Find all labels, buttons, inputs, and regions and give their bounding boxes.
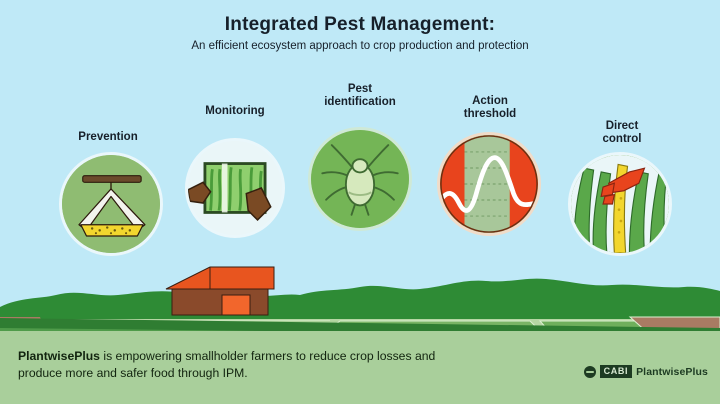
step-circle-pest-identification[interactable]	[308, 127, 412, 231]
quadrat-hands-icon	[188, 141, 282, 235]
step-label-direct-control: Direct control	[562, 120, 682, 146]
step-circle-action-threshold[interactable]	[437, 132, 541, 236]
threshold-chart-icon	[440, 135, 538, 233]
infographic-canvas: PlantwisePlus is empowering smallholder …	[0, 0, 720, 404]
brand-name: PlantwisePlus	[18, 349, 100, 363]
step-label-prevention: Prevention	[38, 131, 178, 144]
step-circle-direct-control[interactable]	[568, 152, 672, 256]
step-circle-prevention[interactable]	[59, 152, 163, 256]
cabi-wordmark: CABI	[600, 365, 632, 378]
plantwiseplus-wordmark: PlantwisePlus	[636, 366, 708, 378]
page-subtitle: An efficient ecosystem approach to crop …	[0, 40, 720, 52]
step-label-monitoring: Monitoring	[165, 105, 305, 118]
page-title: Integrated Pest Management:	[0, 14, 720, 36]
sticky-trap-icon	[62, 155, 160, 253]
step-circle-monitoring[interactable]	[185, 138, 285, 238]
globe-icon	[584, 366, 596, 378]
banner-message: PlantwisePlus is empowering smallholder …	[18, 348, 438, 382]
step-label-action-threshold: Action threshold	[425, 95, 555, 121]
step-label-pest-identification: Pest identification	[290, 83, 430, 109]
cabi-plantwiseplus-logo: CABI PlantwisePlus	[584, 365, 708, 378]
aphid-icon	[311, 130, 409, 228]
maize-control-icon	[571, 155, 669, 253]
